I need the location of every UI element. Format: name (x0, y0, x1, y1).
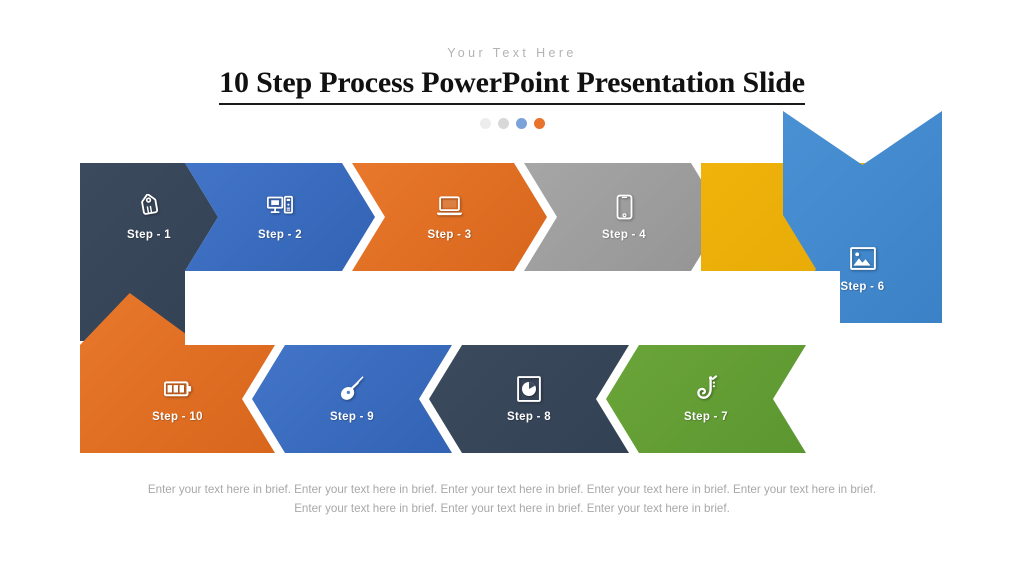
pie-chart-icon (517, 376, 541, 402)
step-label: Step - 6 (841, 281, 885, 293)
dot-indicator-4 (534, 118, 545, 129)
dot-indicator-group (0, 118, 1024, 129)
center-gap (185, 271, 840, 345)
smartphone-icon (616, 194, 633, 220)
page-title: 10 Step Process PowerPoint Presentation … (219, 66, 805, 105)
step-label: Step - 10 (152, 411, 203, 423)
process-step-step3[interactable]: Step - 3 (352, 163, 547, 271)
step-label: Step - 9 (330, 411, 374, 423)
footer-body-text: Enter your text here in brief. Enter you… (133, 481, 891, 518)
step-label: Step - 8 (507, 411, 551, 423)
step-label: Step - 7 (684, 411, 728, 423)
dot-indicator-1 (480, 118, 491, 129)
process-step-step4[interactable]: Step - 4 (524, 163, 724, 271)
dot-indicator-3 (516, 118, 527, 129)
tag-icon (136, 194, 162, 220)
saxophone-icon (694, 376, 718, 402)
eyebrow-text: Your Text Here (0, 46, 1024, 60)
process-step-step8[interactable]: Step - 8 (429, 345, 629, 453)
process-step-step7[interactable]: Step - 7 (606, 345, 806, 453)
slide-header: Your Text Here 10 Step Process PowerPoin… (0, 0, 1024, 129)
dot-indicator-2 (498, 118, 509, 129)
step-label: Step - 2 (258, 229, 302, 241)
step-label: Step - 3 (428, 229, 472, 241)
battery-icon (164, 376, 192, 402)
slide-canvas: Your Text Here 10 Step Process PowerPoin… (0, 0, 1024, 576)
laptop-icon (436, 194, 463, 220)
process-step-step9[interactable]: Step - 9 (252, 345, 452, 453)
guitar-icon (339, 376, 365, 402)
process-diagram: Step - 1Step - 2Step - 3Step - 4Step - 5… (80, 163, 942, 453)
desktop-computer-icon (267, 194, 294, 220)
step-label: Step - 1 (127, 229, 171, 241)
image-picture-icon (850, 246, 876, 272)
step-label: Step - 4 (602, 229, 646, 241)
